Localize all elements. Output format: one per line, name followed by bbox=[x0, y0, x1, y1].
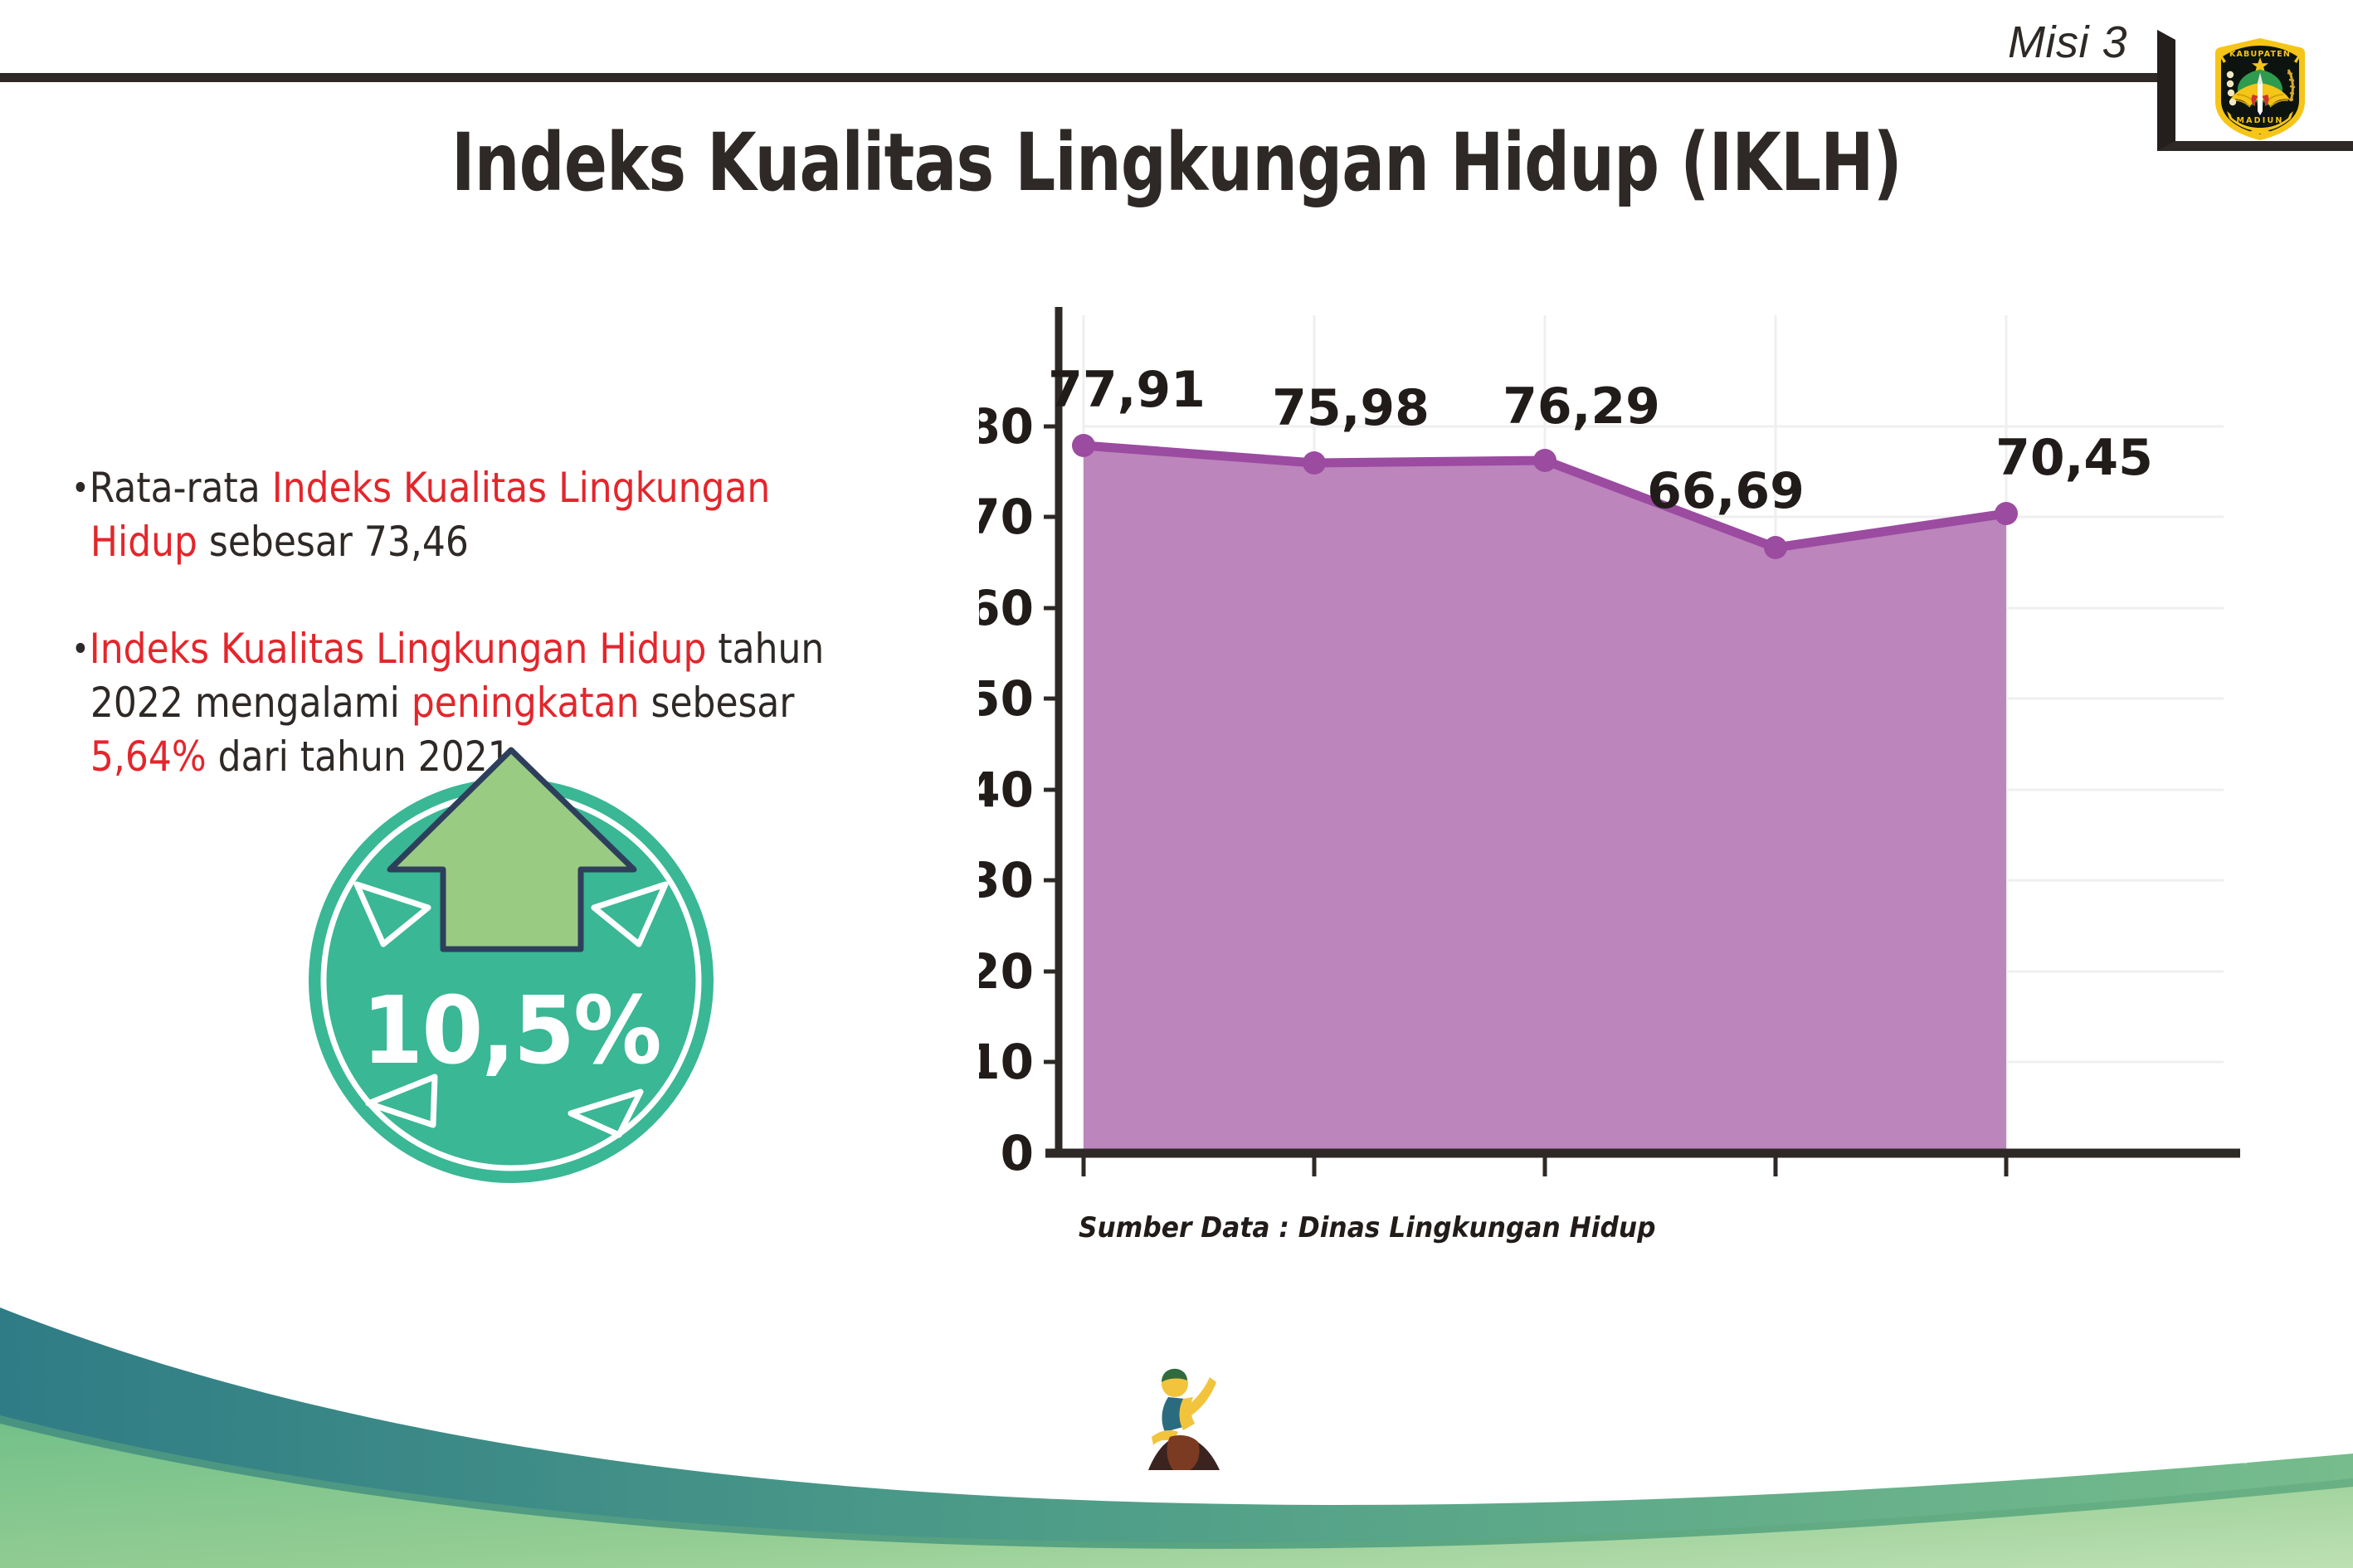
y-tick-label: 70 bbox=[979, 489, 1034, 545]
bullet-2-seg-4: sebesar bbox=[640, 679, 795, 727]
footer-caption: Media Infografis Data Statistik Sektoral… bbox=[1221, 1419, 2250, 1463]
y-tick-label: 50 bbox=[979, 670, 1034, 727]
bullet-2-seg-5: 5,64% bbox=[90, 733, 207, 781]
header-rule bbox=[0, 73, 2164, 82]
chart-area-fill bbox=[1084, 446, 2006, 1153]
data-label: 70,45 bbox=[1995, 429, 2153, 487]
x-tick-label: 2020 bbox=[1469, 1187, 1621, 1195]
bullet-dot: • bbox=[71, 628, 90, 669]
bullet-1-seg-1: Rata-rata bbox=[90, 464, 272, 512]
bullet-dot: • bbox=[71, 467, 90, 508]
badge-graphic bbox=[309, 735, 757, 1183]
x-tick-label: 2019 bbox=[1238, 1187, 1391, 1195]
y-tick-label: 80 bbox=[979, 398, 1034, 455]
mission-label: Misi 3 bbox=[2008, 17, 2127, 68]
increase-badge: 10,5% bbox=[309, 735, 757, 1183]
page-title: Indeks Kualitas Lingkungan Hidup (IKLH) bbox=[236, 116, 2118, 209]
list-item: •Rata-rata Indeks Kualitas Lingkungan Hi… bbox=[71, 461, 845, 569]
data-label: 77,91 bbox=[1048, 361, 1206, 419]
y-tick-label: 0 bbox=[1001, 1125, 1034, 1181]
y-tick-label: 60 bbox=[979, 580, 1034, 636]
data-label: 75,98 bbox=[1272, 379, 1430, 437]
data-label: 76,29 bbox=[1503, 377, 1660, 436]
badge-value: 10,5% bbox=[319, 977, 704, 1085]
x-tick-label: 2021 bbox=[1699, 1187, 1852, 1195]
bullet-2-seg-3: peningkatan bbox=[412, 679, 640, 727]
chart-y-tick-labels: 0 10 20 30 40 50 60 70 80 bbox=[979, 398, 1034, 1181]
y-tick-label: 40 bbox=[979, 762, 1034, 818]
x-tick-label: 2022 bbox=[1930, 1187, 2083, 1195]
x-tick-label: 2018 bbox=[1007, 1187, 1160, 1195]
y-tick-label: 20 bbox=[979, 943, 1034, 1000]
bullet-2-seg-1: Indeks Kualitas Lingkungan Hidup bbox=[90, 625, 707, 673]
svg-text:MADIUN: MADIUN bbox=[2236, 116, 2283, 125]
source-note: Sumber Data : Dinas Lingkungan Hidup bbox=[1079, 1211, 1656, 1244]
y-tick-label: 10 bbox=[979, 1034, 1034, 1090]
y-tick-label: 30 bbox=[979, 852, 1034, 908]
chart-x-tick-labels: 2018 2019 2020 2021 2022 bbox=[1007, 1187, 2083, 1195]
kabupaten-madiun-logo-icon: KABUPATEN MADIUN bbox=[2207, 32, 2313, 144]
bullet-1-seg-3: sebesar 73,46 bbox=[197, 518, 469, 566]
data-label: 66,69 bbox=[1647, 462, 1805, 520]
infographic-slide: Misi 3 KABUPATEN bbox=[0, 0, 2353, 1568]
iklh-area-chart: 0 10 20 30 40 50 60 70 80 2018 2019 2020… bbox=[979, 282, 2240, 1195]
